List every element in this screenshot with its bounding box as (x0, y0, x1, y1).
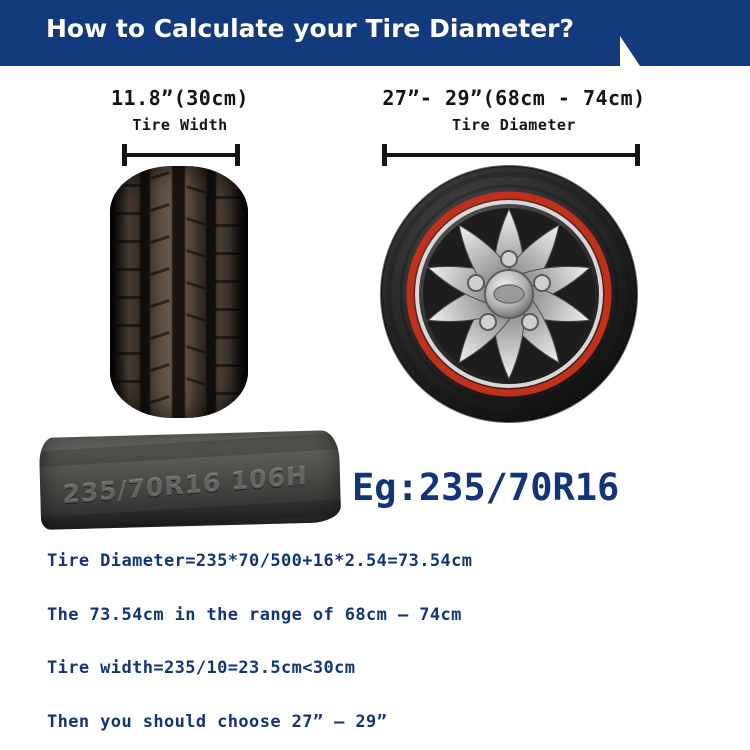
wheel-svg (378, 163, 640, 425)
dimension-cap-right (235, 144, 240, 166)
tire-width-dimension-bar (122, 144, 240, 166)
tire-width-value-label: 11.8”(30cm) (70, 86, 290, 110)
tread-sipe (186, 217, 206, 226)
formula-line-3: Tire width=235/10=23.5cm<30cm (47, 658, 355, 678)
tread-sipe (186, 377, 206, 386)
tread-sipe (150, 395, 170, 404)
tread-sipe (150, 363, 170, 372)
tread-sipe (150, 235, 170, 244)
tread-sipe (186, 281, 206, 290)
tire-sidewall-photo: 235/70R16 106H (39, 430, 341, 530)
tire-diameter-caption: Tire Diameter (334, 116, 694, 134)
infographic-page: How to Calculate your Tire Diameter? 11.… (0, 0, 750, 750)
tread-shoulder-right (230, 166, 248, 418)
tread-sipe (186, 313, 206, 322)
tread-sipe (150, 203, 170, 212)
tread-shoulder-left (110, 166, 128, 418)
tread-sipe (186, 249, 206, 258)
example-code: Eg:235/70R16 (352, 466, 619, 509)
formula-line-4: Then you should choose 27” – 29” (47, 712, 387, 732)
center-cap-emblem (494, 285, 524, 303)
tread-sipe (150, 267, 170, 276)
formula-line-2: The 73.54cm in the range of 68cm – 74cm (47, 605, 462, 625)
tread-groove (206, 166, 216, 418)
dimension-line (122, 153, 240, 157)
page-title: How to Calculate your Tire Diameter? (0, 14, 620, 43)
tread-sipe (150, 171, 170, 180)
dimension-line (382, 153, 640, 157)
tire-width-caption: Tire Width (70, 116, 290, 134)
tread-sipe (150, 299, 170, 308)
tire-tread-illustration (110, 166, 248, 418)
formula-line-1: Tire Diameter=235*70/500+16*2.54=73.54cm (47, 551, 472, 571)
tread-groove (172, 166, 185, 418)
tread-sipe (186, 345, 206, 354)
tire-diameter-value-label: 27”- 29”(68cm - 74cm) (334, 86, 694, 110)
wheel-illustration (378, 163, 640, 425)
tread-sipe (186, 185, 206, 194)
tread-sipe (150, 331, 170, 340)
